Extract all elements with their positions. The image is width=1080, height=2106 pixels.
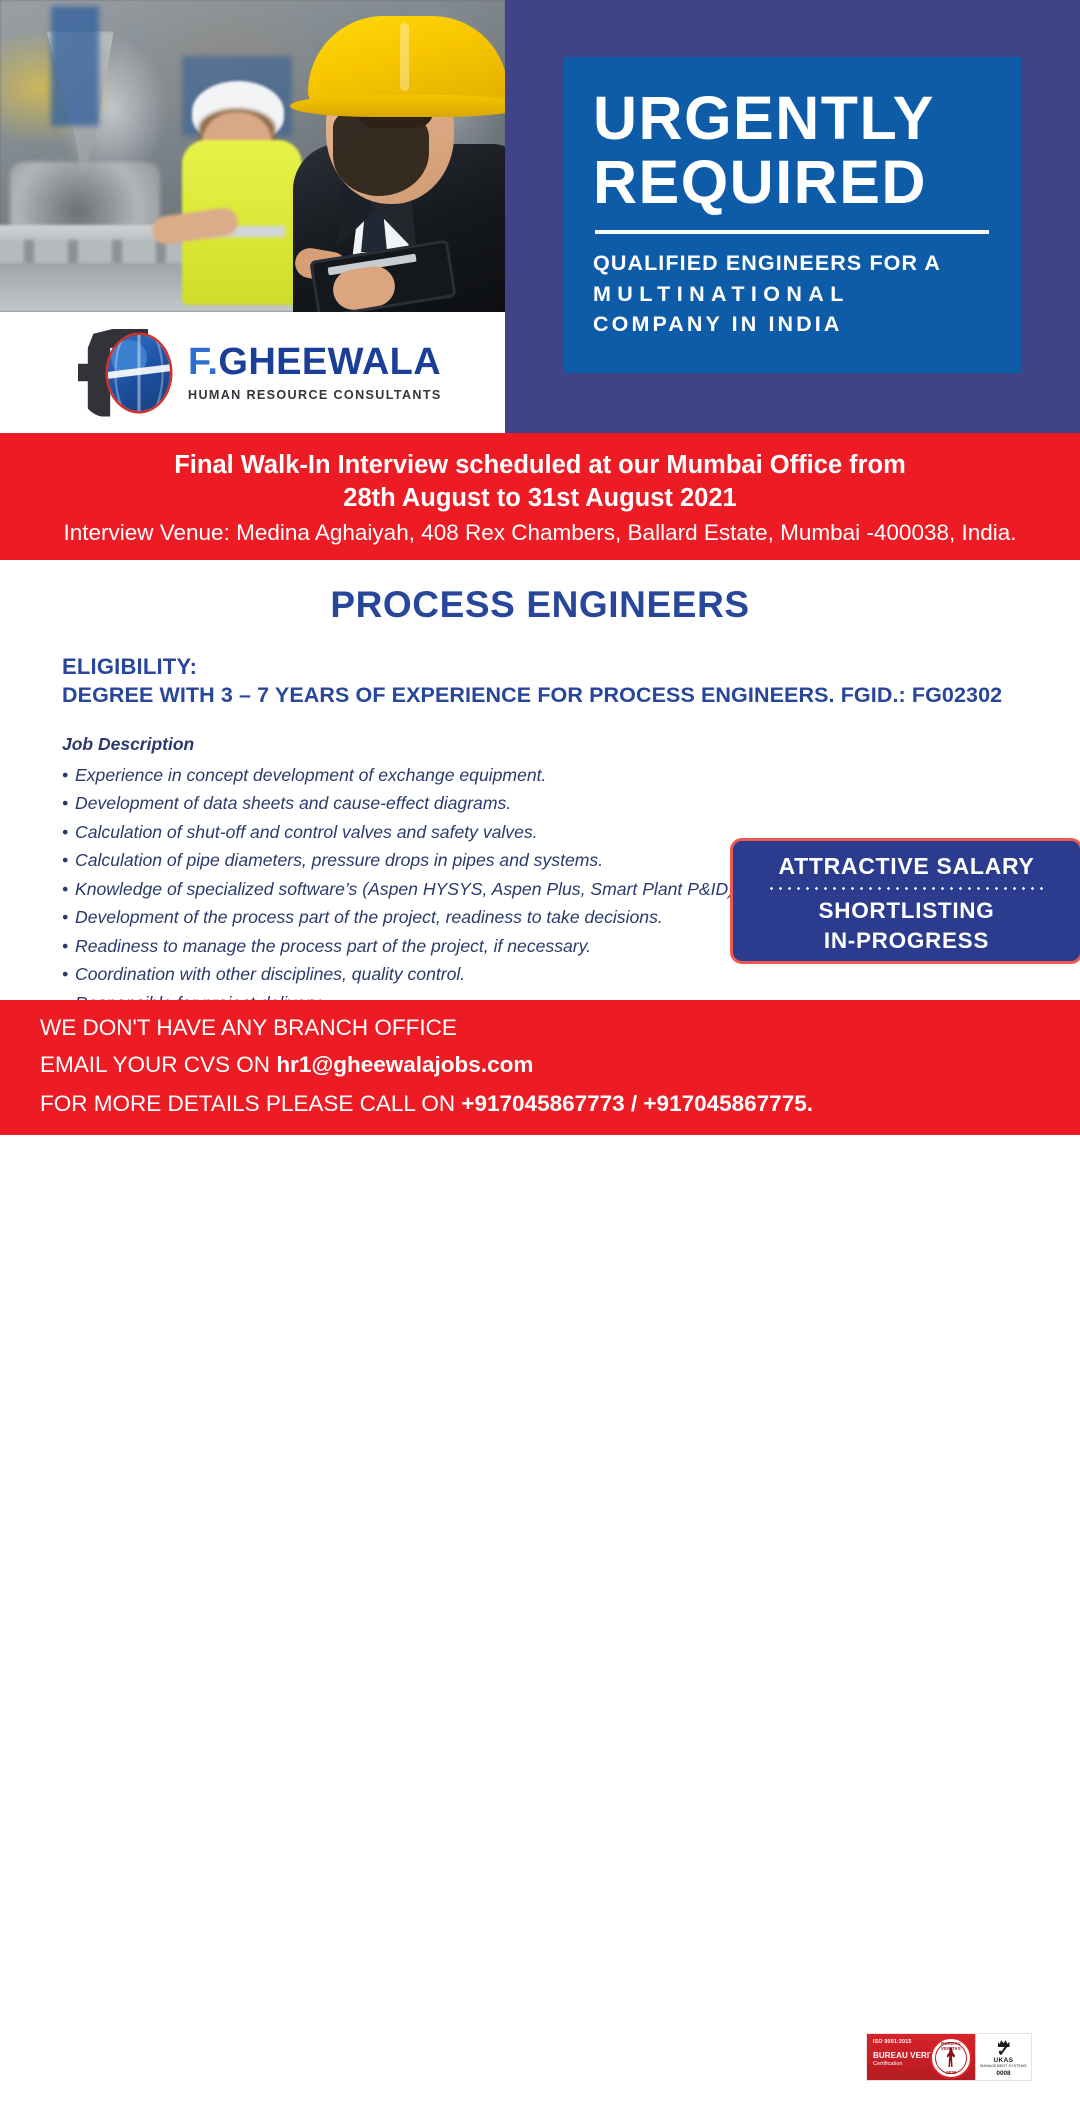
- bureau-veritas-panel: ISO 9001:2015 BUREAU VERITAS Certificati…: [867, 2034, 975, 2080]
- urgent-sub-2: MULTINATIONAL: [593, 279, 991, 310]
- checkmark-icon: ✓: [997, 2046, 1010, 2057]
- eligibility-text: DEGREE WITH 3 – 7 YEARS OF EXPERIENCE FO…: [62, 683, 1080, 708]
- email-label: EMAIL YOUR CVS ON: [40, 1052, 276, 1077]
- bullet-icon: •: [62, 962, 75, 988]
- list-item-text: Calculation of pipe diameters, pressure …: [75, 850, 603, 870]
- phone-line: FOR MORE DETAILS PLEASE CALL ON +9170458…: [40, 1091, 813, 1117]
- bullet-icon: •: [62, 934, 75, 960]
- ukas-sublabel: MANAGEMENT SYSTEMS: [980, 2064, 1026, 2068]
- bullet-icon: •: [62, 848, 75, 874]
- list-item-text: Knowledge of specialized software’s (Asp…: [75, 879, 739, 899]
- urgent-sub-3: COMPANY IN INDIA: [593, 309, 991, 340]
- list-item: •Coordination with other disciplines, qu…: [62, 961, 1080, 990]
- phone-numbers[interactable]: +917045867773 / +917045867775.: [461, 1091, 813, 1116]
- list-item: •Development of data sheets and cause-ef…: [62, 790, 1080, 819]
- interview-dates: 28th August to 31st August 2021: [0, 482, 1080, 515]
- shortlisting-label: SHORTLISTING: [733, 896, 1080, 926]
- logo-text-block: F.GHEEWALA HUMAN RESOURCE CONSULTANTS: [188, 343, 442, 402]
- urgently-required-box: URGENTLY REQUIRED QUALIFIED ENGINEERS FO…: [563, 57, 1021, 373]
- in-progress-label: IN-PROGRESS: [733, 926, 1080, 956]
- list-item-text: Development of data sheets and cause-eff…: [75, 793, 511, 813]
- website-url[interactable]: www.gheewalajobs.com: [866, 2088, 1046, 2106]
- eligibility-label: ELIGIBILITY:: [62, 654, 1080, 680]
- logo-globe-shape: [108, 335, 170, 411]
- status-badge: ATTRACTIVE SALARY SHORTLISTING IN-PROGRE…: [733, 841, 1080, 961]
- urgent-line-1: URGENTLY: [593, 86, 991, 150]
- bullet-icon: •: [62, 877, 75, 903]
- urgent-line-2: REQUIRED: [593, 150, 991, 214]
- logo-name-part1: F.: [188, 341, 218, 383]
- bullet-icon: •: [62, 820, 75, 846]
- list-item-text: Readiness to manage the process part of …: [75, 936, 591, 956]
- company-logo: F.GHEEWALA HUMAN RESOURCE CONSULTANTS: [0, 312, 505, 433]
- interview-venue: Interview Venue: Medina Aghaiyah, 408 Re…: [0, 518, 1080, 548]
- ukas-label: UKAS: [993, 2057, 1013, 2064]
- logo-tagline: HUMAN RESOURCE CONSULTANTS: [188, 388, 442, 402]
- attractive-salary-label: ATTRACTIVE SALARY: [733, 853, 1080, 880]
- eligibility-requirement: DEGREE WITH 3 – 7 YEARS OF EXPERIENCE FO…: [62, 683, 835, 707]
- divider-rule: [595, 230, 989, 234]
- phone-label: FOR MORE DETAILS PLEASE CALL ON: [40, 1091, 461, 1116]
- list-item-text: Calculation of shut-off and control valv…: [75, 822, 538, 842]
- blue-pillar: [51, 6, 99, 126]
- ukas-number: 0008: [996, 2070, 1010, 2077]
- seal-year: 1828: [932, 2070, 970, 2075]
- urgent-sub-1: QUALIFIED ENGINEERS FOR A: [593, 248, 991, 279]
- hero-section: F.GHEEWALA HUMAN RESOURCE CONSULTANTS UR…: [0, 0, 1080, 433]
- list-item-text: Experience in concept development of exc…: [75, 765, 546, 785]
- gheewala-globe-icon: [78, 327, 170, 419]
- bullet-icon: •: [62, 791, 75, 817]
- email-address[interactable]: hr1@gheewalajobs.com: [276, 1052, 533, 1077]
- bullet-icon: •: [62, 763, 75, 789]
- interview-line-1: Final Walk-In Interview scheduled at our…: [0, 449, 1080, 482]
- dotted-divider: [767, 887, 1046, 890]
- bullet-icon: •: [62, 905, 75, 931]
- bureau-veritas-seal-icon: BUREAU VERITAS 1828: [930, 2037, 972, 2079]
- email-line: EMAIL YOUR CVS ON hr1@gheewalajobs.com: [40, 1052, 533, 1078]
- interview-banner: Final Walk-In Interview scheduled at our…: [0, 433, 1080, 560]
- iso-certification-badge: ISO 9001:2015 BUREAU VERITAS Certificati…: [866, 2033, 1032, 2081]
- engineer-photo: [0, 0, 505, 312]
- crown-icon: [998, 2039, 1010, 2047]
- list-item-text: Development of the process part of the p…: [75, 907, 663, 927]
- fgid-code: FGID.: FG02302: [841, 683, 1003, 707]
- ukas-panel: ✓ UKAS MANAGEMENT SYSTEMS 0008: [975, 2034, 1031, 2080]
- logo-company-name: F.GHEEWALA: [188, 343, 442, 381]
- page-title: PROCESS ENGINEERS: [0, 584, 1080, 626]
- logo-name-part2: GHEEWALA: [218, 341, 441, 383]
- job-description-heading: Job Description: [62, 734, 1080, 755]
- list-item-text: Coordination with other disciplines, qua…: [75, 964, 465, 984]
- contact-footer: WE DON'T HAVE ANY BRANCH OFFICE EMAIL YO…: [0, 1000, 1080, 1135]
- branch-office-notice: WE DON'T HAVE ANY BRANCH OFFICE: [40, 1015, 457, 1041]
- list-item: •Experience in concept development of ex…: [62, 761, 1080, 790]
